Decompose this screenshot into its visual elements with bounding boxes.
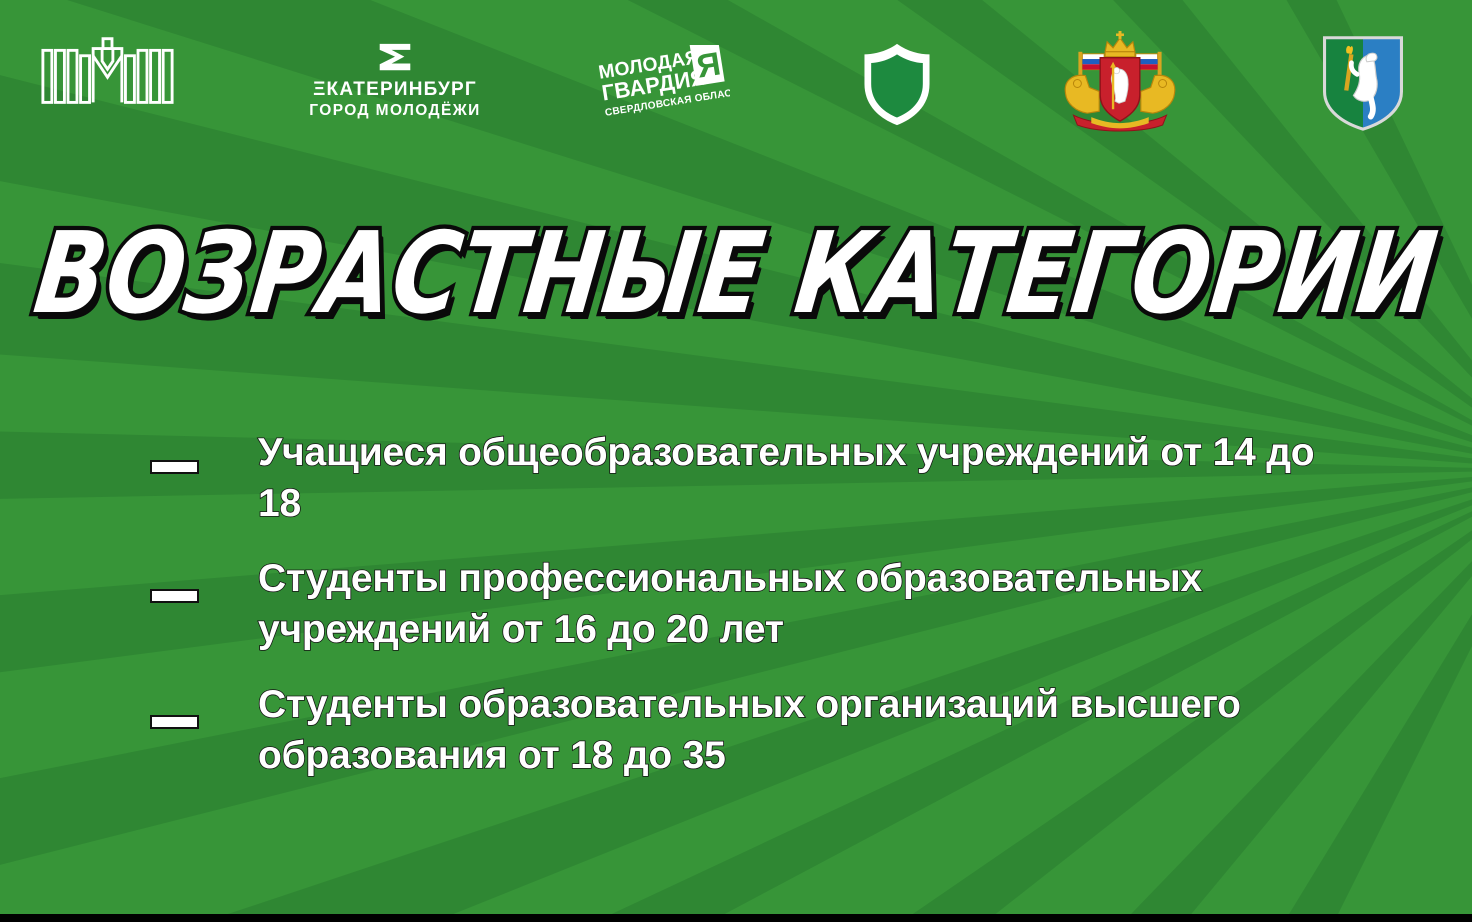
dash-bullet-icon	[150, 715, 199, 729]
kremlin-wall-m-icon	[40, 36, 175, 106]
poster-canvas: ΞКАТЕРИНБУРГ ГОРОД МОЛОДЁЖИ МОЛОДАЯ ГВАР…	[0, 0, 1472, 922]
ekaterinburg-coat-of-arms-icon	[1318, 32, 1408, 132]
bottom-border-bar	[0, 914, 1472, 922]
page-title: ВОЗРАСТНЫЕ КАТЕГОРИИ	[0, 218, 1472, 330]
sverdlovsk-coat-of-arms	[1055, 30, 1185, 135]
list-item-label: Студенты профессиональных образовательны…	[258, 553, 1472, 656]
ministry-logo	[40, 36, 175, 106]
dash-bullet-icon	[150, 460, 199, 474]
list-item: Студенты образовательных организаций выс…	[0, 667, 1472, 793]
list-item: Учащиеся общеобразовательных учреждений …	[0, 415, 1472, 541]
logo-strip: ΞКАТЕРИНБУРГ ГОРОД МОЛОДЁЖИ МОЛОДАЯ ГВАР…	[0, 0, 1472, 150]
molodaya-gvardiya-mark: МОЛОДАЯ ГВАРДИЯ Я СВЕРДЛОВСКАЯ ОБЛАСТЬ	[595, 45, 730, 120]
list-item-label: Учащиеся общеобразовательных учреждений …	[258, 427, 1472, 530]
sigma-e-mark-icon	[378, 43, 412, 72]
ekaterinburg-logo-line2: ГОРОД МОЛОДЁЖИ	[309, 101, 480, 120]
age-categories-list: Учащиеся общеобразовательных учреждений …	[0, 415, 1472, 793]
shield-logo	[858, 40, 936, 128]
ekaterinburg-logo-line1: ΞКАТЕРИНБУРГ	[313, 79, 477, 101]
list-item: Студенты профессиональных образовательны…	[0, 541, 1472, 667]
ekaterinburg-logo: ΞКАТЕРИНБУРГ ГОРОД МОЛОДЁЖИ	[300, 42, 490, 122]
shield-emblem-icon	[858, 40, 936, 128]
molodaya-gvardiya-logo: МОЛОДАЯ ГВАРДИЯ Я СВЕРДЛОВСКАЯ ОБЛАСТЬ	[595, 45, 730, 120]
dash-bullet-icon	[150, 589, 199, 603]
list-item-label: Студенты образовательных организаций выс…	[258, 679, 1472, 782]
sverdlovsk-coat-of-arms-icon	[1055, 30, 1185, 135]
ekaterinburg-coat-of-arms	[1318, 32, 1408, 132]
